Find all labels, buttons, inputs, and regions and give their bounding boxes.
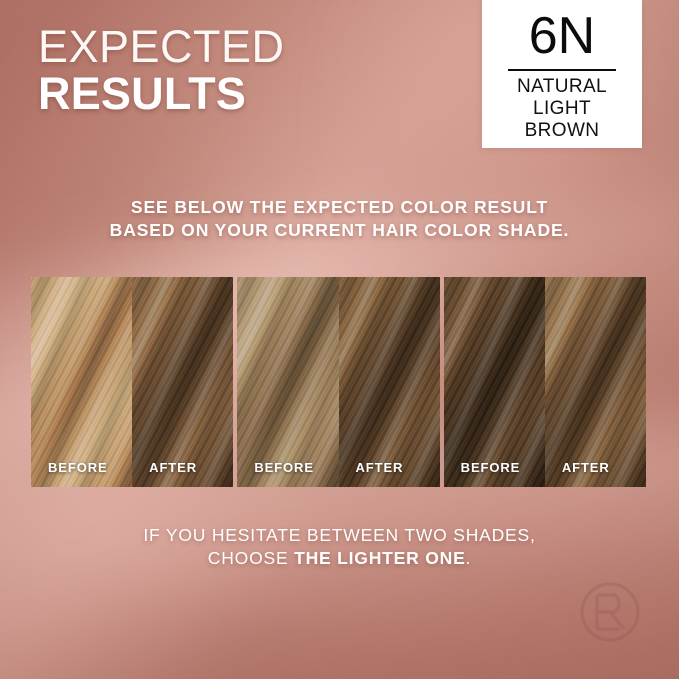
swatch-after-3: AFTER	[545, 277, 646, 487]
hair-sheen	[444, 277, 545, 487]
swatch-after-1: AFTER	[132, 277, 233, 487]
shade-name-line-2: LIGHT	[517, 98, 607, 120]
shade-code: 6N	[529, 7, 595, 65]
swatch-label-before: BEFORE	[461, 460, 521, 475]
swatch-pair-3: BEFORE AFTER	[444, 277, 646, 487]
page-title: EXPECTED RESULTS	[38, 24, 285, 118]
footnote-choose-text: CHOOSE	[208, 548, 294, 568]
shade-name-line-1: NATURAL	[517, 76, 607, 98]
hair-sheen	[545, 277, 646, 487]
subtitle-line-1: SEE BELOW THE EXPECTED COLOR RESULT	[0, 196, 679, 219]
hair-sheen	[339, 277, 440, 487]
subtitle: SEE BELOW THE EXPECTED COLOR RESULT BASE…	[0, 196, 679, 242]
footnote-period: .	[466, 548, 472, 568]
swatch-pair-2: BEFORE AFTER	[237, 277, 439, 487]
hair-sheen	[31, 277, 132, 487]
swatch-before-3: BEFORE	[444, 277, 545, 487]
swatch-label-after: AFTER	[149, 460, 197, 475]
shade-name: NATURAL LIGHT BROWN	[517, 76, 607, 142]
badge-divider	[508, 69, 616, 71]
shade-name-line-3: BROWN	[517, 120, 607, 142]
loreal-monogram-logo-icon	[579, 581, 641, 643]
swatch-label-after: AFTER	[356, 460, 404, 475]
shade-badge: 6N NATURAL LIGHT BROWN	[482, 0, 642, 148]
swatch-before-1: BEFORE	[31, 277, 132, 487]
page-title-line-2: RESULTS	[38, 70, 285, 118]
footnote-line-1: IF YOU HESITATE BETWEEN TWO SHADES,	[0, 524, 679, 547]
hair-sheen	[237, 277, 338, 487]
swatch-label-before: BEFORE	[254, 460, 314, 475]
swatch-pair-1: BEFORE AFTER	[31, 277, 233, 487]
before-after-swatch-panel: BEFORE AFTER BEFORE AFTER	[31, 277, 646, 487]
swatch-before-2: BEFORE	[237, 277, 338, 487]
swatch-after-2: AFTER	[339, 277, 440, 487]
hair-sheen	[132, 277, 233, 487]
subtitle-line-2: BASED ON YOUR CURRENT HAIR COLOR SHADE.	[0, 219, 679, 242]
footnote: IF YOU HESITATE BETWEEN TWO SHADES, CHOO…	[0, 524, 679, 570]
swatch-label-before: BEFORE	[48, 460, 108, 475]
page-title-line-1: EXPECTED	[38, 24, 285, 70]
swatch-label-after: AFTER	[562, 460, 610, 475]
footnote-emphasis: THE LIGHTER ONE	[294, 548, 465, 568]
footnote-line-2: CHOOSE THE LIGHTER ONE.	[0, 547, 679, 570]
expected-results-panel: EXPECTED RESULTS 6N NATURAL LIGHT BROWN …	[0, 0, 679, 679]
